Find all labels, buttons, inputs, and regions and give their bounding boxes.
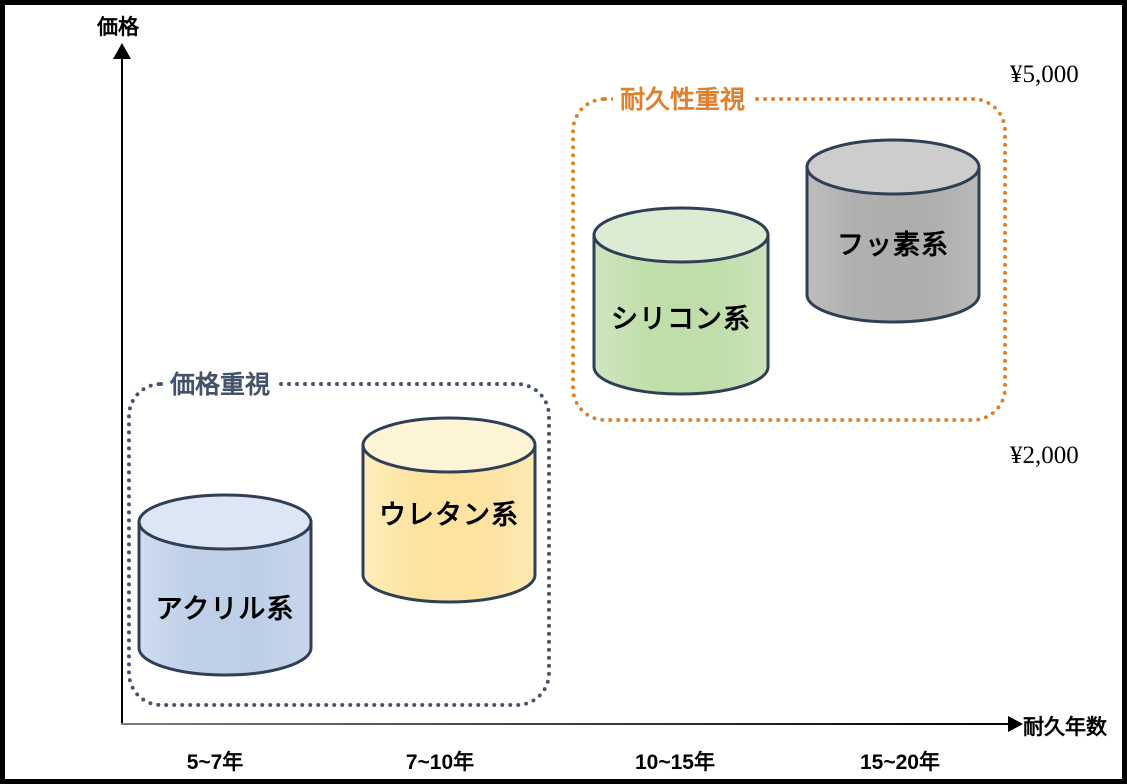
chart-canvas: 価格 耐久年数 ¥5,000 ¥2,000 5~7年 7~10年 10~15年 … bbox=[0, 0, 1127, 784]
cylinder-acrylic-shape bbox=[137, 492, 313, 678]
y-tick-label-2000: ¥2,000 bbox=[1010, 442, 1122, 470]
group-label-durability-focused: 耐久性重視 bbox=[613, 80, 752, 116]
cylinder-silicon-label: シリコン系 bbox=[592, 297, 770, 336]
cylinder-fluorine: フッ素系 bbox=[805, 137, 981, 325]
x-tick-label-15-20: 15~20年 bbox=[805, 746, 995, 776]
y-axis-title: 価格 bbox=[97, 11, 139, 41]
x-axis-line bbox=[121, 723, 1015, 725]
cylinder-fluorine-label: フッ素系 bbox=[805, 223, 981, 262]
x-axis-title: 耐久年数 bbox=[1023, 711, 1107, 741]
cylinder-acrylic: アクリル系 bbox=[137, 492, 313, 678]
y-axis-arrow-icon bbox=[113, 43, 131, 59]
y-tick-label-5000: ¥5,000 bbox=[1010, 61, 1122, 89]
cylinder-urethane-label: ウレタン系 bbox=[361, 493, 537, 532]
x-tick-label-5-7: 5~7年 bbox=[125, 746, 305, 776]
cylinder-silicon: シリコン系 bbox=[592, 205, 770, 397]
cylinder-urethane: ウレタン系 bbox=[361, 415, 537, 605]
x-tick-label-7-10: 7~10年 bbox=[350, 746, 530, 776]
group-label-price-focused: 価格重視 bbox=[163, 365, 277, 401]
y-axis-line bbox=[121, 57, 123, 725]
x-tick-label-10-15: 10~15年 bbox=[580, 746, 770, 776]
x-axis-arrow-icon bbox=[1008, 716, 1023, 732]
cylinder-acrylic-label: アクリル系 bbox=[137, 587, 313, 626]
